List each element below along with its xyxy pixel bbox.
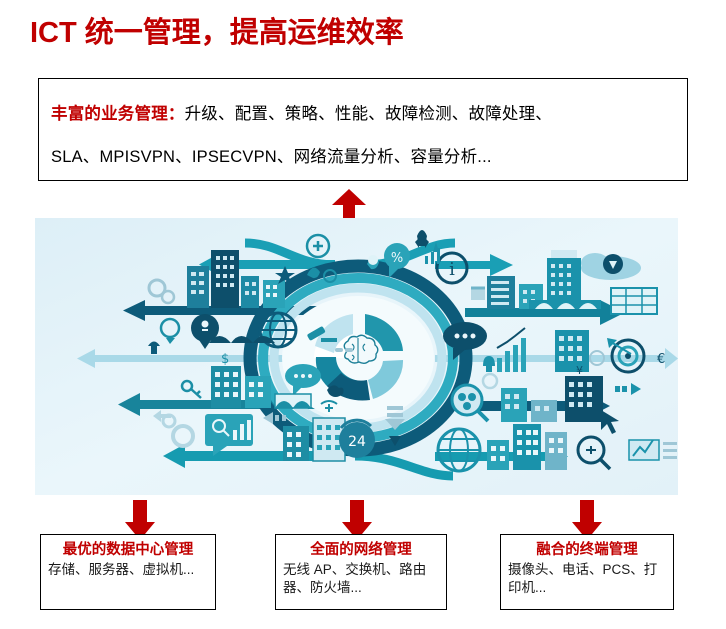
category-1-desc: 存储、服务器、虚拟机... xyxy=(48,561,208,579)
category-2-desc: 无线 AP、交换机、路由器、防火墙... xyxy=(283,561,439,597)
chart-monitor-icon xyxy=(629,440,677,460)
category-2-title: 全面的网络管理 xyxy=(283,541,439,559)
info-line-1-rest: 升级、配置、策略、性能、故障检测、故障处理、 xyxy=(185,105,552,123)
category-box-terminal: 融合的终端管理 摄像头、电话、PCS、打印机... xyxy=(500,534,674,610)
svg-text:$: $ xyxy=(221,352,229,367)
svg-text:¥: ¥ xyxy=(576,364,583,377)
svg-text:€: € xyxy=(657,352,665,367)
category-box-network: 全面的网络管理 无线 AP、交换机、路由器、防火墙... xyxy=(275,534,447,610)
down-arrow-1-tail xyxy=(133,500,147,524)
info-line-1: 丰富的业务管理：升级、配置、策略、性能、故障检测、故障处理、 xyxy=(51,100,552,124)
ict-infographic-image: $ xyxy=(35,218,678,495)
info-line-2: SLA、MPISVPN、IPSECVPN、网络流量分析、容量分析... xyxy=(51,143,492,167)
up-arrow-head xyxy=(332,189,366,205)
bridge-icon xyxy=(529,300,601,309)
page-title: ICT 统一管理，提高运维效率 xyxy=(30,18,404,50)
category-3-desc: 摄像头、电话、PCS、打印机... xyxy=(508,561,666,597)
spreadsheet-icon xyxy=(611,288,657,314)
info-lead-label: 丰富的业务管理： xyxy=(51,105,185,123)
svg-text:24: 24 xyxy=(348,434,366,450)
down-arrow-2-tail xyxy=(350,500,364,524)
up-arrow-tail xyxy=(343,204,355,218)
category-1-title: 最优的数据中心管理 xyxy=(48,541,208,559)
category-3-title: 融合的终端管理 xyxy=(508,541,666,559)
svg-text:i: i xyxy=(449,259,455,280)
service-management-box: 丰富的业务管理：升级、配置、策略、性能、故障检测、故障处理、 SLA、MPISV… xyxy=(38,78,688,181)
svg-text:%: % xyxy=(391,251,403,266)
down-arrow-3-tail xyxy=(580,500,594,524)
24-support-icon: 24 xyxy=(339,420,375,458)
category-box-datacenter: 最优的数据中心管理 存储、服务器、虚拟机... xyxy=(40,534,216,610)
infographic-svg: $ xyxy=(35,218,678,495)
up-arrow-icon xyxy=(332,189,366,217)
